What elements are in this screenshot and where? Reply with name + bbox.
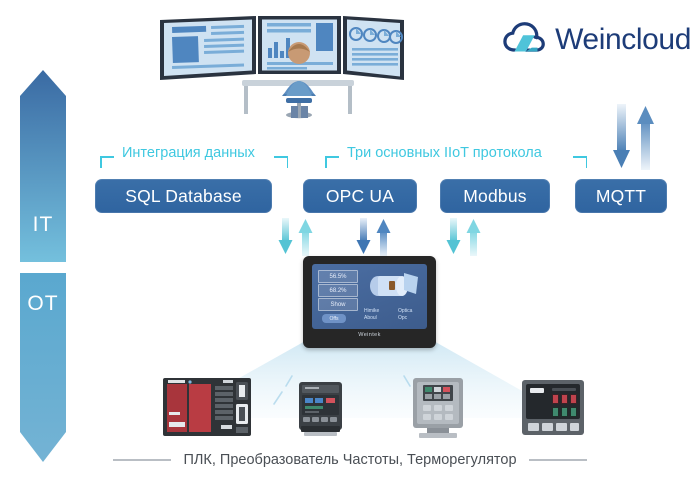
- mqtt-button[interactable]: MQTT: [575, 179, 667, 213]
- arrow-up-icon: [377, 219, 391, 256]
- protocol-label: MQTT: [596, 186, 646, 207]
- ot-label: OT: [18, 292, 68, 316]
- sql-database-button[interactable]: SQL Database: [95, 179, 272, 213]
- devices-caption: ПЛК, Преобразователь Частоты, Терморегул…: [0, 452, 700, 468]
- thermostat-icon: [522, 380, 584, 435]
- hmi-tab-1[interactable]: Himike Aboul: [364, 308, 398, 322]
- protocol-label: Modbus: [463, 186, 526, 207]
- hmi-tab-line1: Himike: [364, 308, 379, 314]
- hmi-device-icon: [364, 268, 422, 302]
- protocol-label: SQL Database: [125, 186, 242, 207]
- hmi-tab-line2: Aboul: [364, 315, 377, 321]
- weincloud-logo: Weincloud: [503, 16, 691, 64]
- hmi-screen-button[interactable]: Offs: [322, 314, 346, 323]
- arrow-up-icon: [299, 219, 313, 256]
- hmi-brand-label: Weintek: [303, 332, 436, 338]
- hmi-panel[interactable]: 56.5% 68.2% Show Offs Himike Aboul Optic…: [303, 256, 436, 348]
- hmi-screen[interactable]: 56.5% 68.2% Show Offs Himike Aboul Optic…: [312, 264, 427, 329]
- inverter-icon: [413, 378, 463, 438]
- diagram-canvas: Weincloud: [0, 0, 700, 490]
- arrow-down-icon: [357, 218, 371, 254]
- bracket-data-integration: Интеграция данных: [100, 146, 288, 168]
- controller-icon: [299, 382, 342, 436]
- it-ot-layer-arrow: IT OT: [18, 70, 68, 465]
- it-label: IT: [18, 213, 68, 237]
- caption-rule-left: [113, 459, 171, 461]
- arrow-up-icon: [637, 106, 654, 170]
- controller-device[interactable]: [298, 382, 343, 436]
- monitor-left: [160, 16, 256, 80]
- frequency-inverter-device[interactable]: [411, 378, 465, 438]
- protocol-hmi-arrows: [270, 218, 495, 256]
- plc-icon: [163, 378, 251, 436]
- brand-name: Weincloud: [555, 23, 691, 57]
- monitor-right: [343, 16, 404, 80]
- caption-text: ПЛК, Преобразователь Частоты, Терморегул…: [183, 452, 516, 468]
- mqtt-cloud-arrows: [611, 104, 665, 172]
- cloud-arrow-icon: [503, 20, 547, 60]
- bracket-label: Интеграция данных: [122, 145, 255, 161]
- arrow-down-icon: [447, 218, 461, 254]
- arrow-up-icon: [467, 219, 481, 256]
- bracket-label: Три основных IIoT протокола: [347, 145, 542, 161]
- hmi-tab-line2: Opc: [398, 315, 407, 321]
- hmi-field-value-2: 68.2%: [318, 284, 358, 297]
- caption-rule-right: [529, 459, 587, 461]
- operator-at-desk-icon: [158, 10, 408, 120]
- hmi-tab-line1: Opticа: [398, 308, 412, 314]
- plc-device[interactable]: [163, 378, 251, 436]
- opc-ua-button[interactable]: OPC UA: [303, 179, 417, 213]
- light-beam-graphic: [0, 340, 700, 455]
- hmi-field-value-3: Show: [318, 298, 358, 311]
- modbus-button[interactable]: Modbus: [440, 179, 550, 213]
- protocol-label: OPC UA: [326, 186, 394, 207]
- arrow-down-icon: [613, 104, 630, 168]
- double-vertical-arrow-icon: [18, 70, 68, 465]
- arrow-down-icon: [279, 218, 293, 254]
- hmi-tab-2[interactable]: Opticа Opc: [398, 308, 427, 322]
- hmi-field-value-1: 56.5%: [318, 270, 358, 283]
- bracket-iiot-protocols: Три основных IIoT протокола: [325, 146, 587, 168]
- temperature-controller-device[interactable]: [522, 380, 584, 435]
